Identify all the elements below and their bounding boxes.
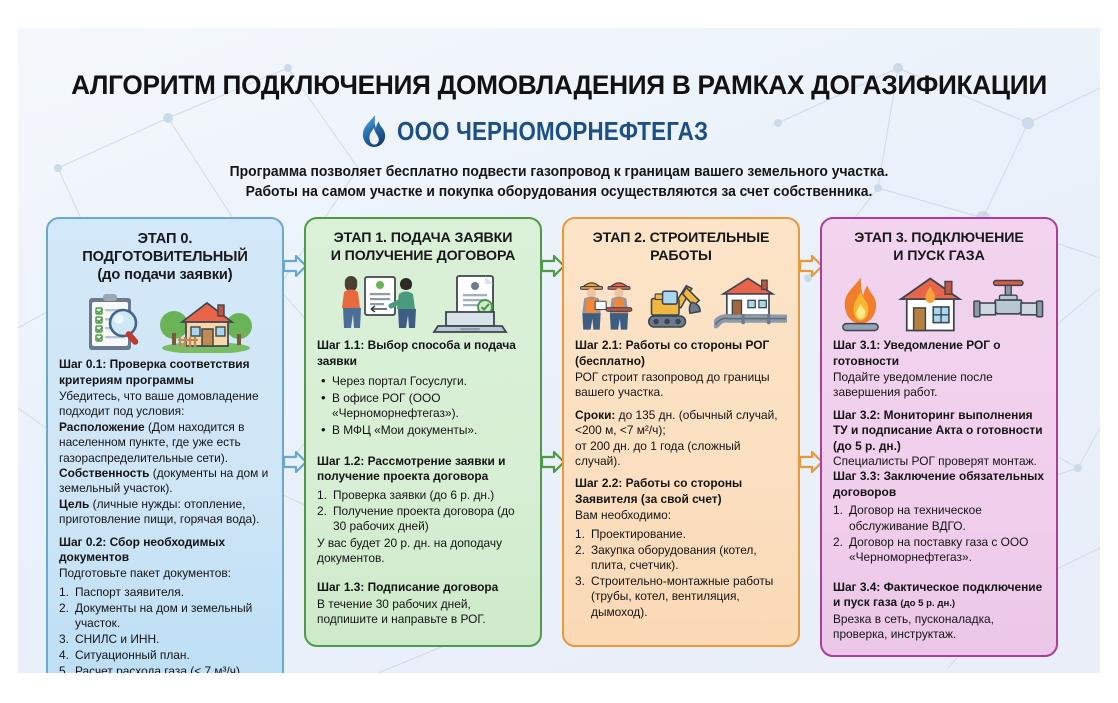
house-trees-icon bbox=[160, 293, 252, 353]
list-item: Паспорт заявителя. bbox=[59, 585, 271, 600]
connector-2-3 bbox=[800, 217, 820, 673]
step-3-4-badge: (до 5 р. дн.) bbox=[900, 598, 955, 609]
stage-2-heading: ЭТАП 2. СТРОИТЕЛЬНЫЕ РАБОТЫ bbox=[575, 228, 787, 265]
step-2-terms-line2: от 200 дн. до 1 года (сложный случай). bbox=[575, 439, 787, 470]
stage-1-heading: ЭТАП 1. ПОДАЧА ЗАЯВКИ И ПОЛУЧЕНИЕ ДОГОВО… bbox=[317, 228, 529, 265]
list-item: Ситуационный план. bbox=[59, 648, 271, 663]
step-3-1-note: Подайте уведомление после завершения раб… bbox=[833, 370, 1045, 401]
list-item: В МФЦ «Мои документы». bbox=[319, 423, 529, 438]
list-item: Получение проекта договора (до 30 рабочи… bbox=[317, 504, 529, 535]
step-3-4-title: Шаг 3.4: Фактическое подключение и пуск … bbox=[833, 580, 1045, 611]
step-2-1-title: Шаг 2.1: Работы со стороны РОГ (бесплатн… bbox=[575, 338, 787, 369]
laptop-application-icon bbox=[430, 274, 510, 334]
step-2-terms: Сроки: до 135 дн. (обычный случай, <200 … bbox=[575, 408, 787, 439]
step-3-3-list: Договор на техническое обслуживание ВДГО… bbox=[833, 503, 1045, 565]
stage-0-heading-line2: (до подачи заявки) bbox=[61, 266, 269, 284]
step-0-2-list: Паспорт заявителя. Документы на дом и зе… bbox=[59, 585, 271, 673]
stage-2-body: Шаг 2.1: Работы со стороны РОГ (бесплатн… bbox=[575, 338, 787, 620]
step-1-2-title: Шаг 1.2: Рассмотрение заявки и получение… bbox=[317, 454, 529, 485]
stage-1-heading-line2: И ПОЛУЧЕНИЕ ДОГОВОРА bbox=[319, 248, 527, 266]
logo-text: ООО ЧЕРНОМОРНЕФТЕГАЗ bbox=[397, 116, 708, 147]
stage-3-heading-line1: ЭТАП 3. ПОДКЛЮЧЕНИЕ bbox=[835, 230, 1043, 248]
step-3-2-note: Специалисты РОГ проверят монтаж. bbox=[833, 454, 1045, 469]
stage-0-body: Шаг 0.1: Проверка соответствия критериям… bbox=[59, 357, 271, 673]
stage-0-icons bbox=[59, 291, 271, 353]
stage-card-2: ЭТАП 2. СТРОИТЕЛЬНЫЕ РАБОТЫ bbox=[562, 217, 800, 647]
step-3-4-note: Врезка в сеть, пусконаладка, проверка, и… bbox=[833, 612, 1045, 643]
gas-flame-icon bbox=[360, 114, 388, 148]
stage-2-icons bbox=[575, 272, 787, 334]
list-item: Проектирование. bbox=[575, 527, 787, 542]
step-1-3-title: Шаг 1.3: Подписание договора bbox=[317, 580, 529, 595]
list-item: Строительно-монтажные работы (трубы, кот… bbox=[575, 574, 787, 620]
list-item: Договор на техническое обслуживание ВДГО… bbox=[833, 503, 1045, 534]
infographic-canvas: АЛГОРИТМ ПОДКЛЮЧЕНИЯ ДОМОВЛАДЕНИЯ В РАМК… bbox=[18, 28, 1100, 673]
criterion-1: Расположение (Дом находится в населенном… bbox=[59, 420, 271, 466]
flame-burner-icon bbox=[833, 274, 888, 334]
connector-0-1 bbox=[284, 217, 304, 673]
checklist-magnifier-icon bbox=[79, 293, 153, 353]
list-item: В офисе РОГ (ООО «Черноморнефтегаз»). bbox=[319, 391, 529, 422]
stage-2-heading-line2: РАБОТЫ bbox=[577, 248, 785, 266]
step-1-2-note: У вас будет 20 р. дн. на доподачу докуме… bbox=[317, 536, 529, 567]
two-workers-icon bbox=[575, 274, 639, 334]
stage-card-3: ЭТАП 3. ПОДКЛЮЧЕНИЕ И ПУСК ГАЗА bbox=[820, 217, 1058, 658]
step-3-3-title: Шаг 3.3: Заключение обязательных договор… bbox=[833, 469, 1045, 500]
step-2-1-note: РОГ строит газопровод до границы вашего … bbox=[575, 370, 787, 401]
list-item: Через портал Госуслуги. bbox=[319, 374, 529, 389]
list-item: Закупка оборудования (котел, плита, счет… bbox=[575, 543, 787, 574]
step-0-2-intro: Подготовьте пакет документов: bbox=[59, 566, 271, 581]
step-1-1-title: Шаг 1.1: Выбор способа и подача заявки bbox=[317, 338, 529, 369]
list-item: Договор на поставку газа с ООО «Черномор… bbox=[833, 535, 1045, 566]
stages-row: ЭТАП 0. ПОДГОТОВИТЕЛЬНЫЙ (до подачи заяв… bbox=[18, 203, 1100, 673]
stage-0-heading: ЭТАП 0. ПОДГОТОВИТЕЛЬНЫЙ (до подачи заяв… bbox=[59, 228, 271, 284]
header: АЛГОРИТМ ПОДКЛЮЧЕНИЯ ДОМОВЛАДЕНИЯ В РАМК… bbox=[18, 28, 1100, 203]
stage-0-heading-line1: ЭТАП 0. ПОДГОТОВИТЕЛЬНЫЙ bbox=[61, 230, 269, 266]
stage-3-heading-line2: И ПУСК ГАЗА bbox=[835, 248, 1043, 266]
list-item: Расчет расхода газа (< 7 м³/ч). bbox=[59, 664, 271, 673]
step-0-2-title: Шаг 0.2: Сбор необходимых документов bbox=[59, 535, 271, 566]
step-1-2-list: Проверка заявки (до 6 р. дн.) Получение … bbox=[317, 488, 529, 535]
stage-3-heading: ЭТАП 3. ПОДКЛЮЧЕНИЕ И ПУСК ГАЗА bbox=[833, 228, 1045, 265]
house-gas-icon bbox=[895, 274, 966, 334]
valve-icon bbox=[972, 276, 1045, 334]
stage-card-1: ЭТАП 1. ПОДАЧА ЗАЯВКИ И ПОЛУЧЕНИЕ ДОГОВО… bbox=[304, 217, 542, 647]
list-item: СНИЛС и ИНН. bbox=[59, 632, 271, 647]
list-item: Проверка заявки (до 6 р. дн.) bbox=[317, 488, 529, 503]
step-0-1-intro: Убедитесь, что ваше домовладение подходи… bbox=[59, 389, 271, 420]
step-1-3-note: В течение 30 рабочих дней, подпишите и н… bbox=[317, 597, 529, 628]
step-1-1-list: Через портал Госуслуги. В офисе РОГ (ООО… bbox=[319, 374, 529, 439]
stage-1-heading-line1: ЭТАП 1. ПОДАЧА ЗАЯВКИ bbox=[319, 230, 527, 248]
subtitle-line-2: Работы на самом участке и покупка оборуд… bbox=[37, 182, 1081, 202]
step-2-2-list: Проектирование. Закупка оборудования (ко… bbox=[575, 527, 787, 620]
stage-3-body: Шаг 3.1: Уведомление РОГ о готовности По… bbox=[833, 338, 1045, 642]
connector-1-2 bbox=[542, 217, 562, 673]
list-item: Документы на дом и земельный участок. bbox=[59, 601, 271, 632]
subtitle-line-1: Программа позволяет бесплатно подвести г… bbox=[37, 162, 1081, 182]
stage-1-body: Шаг 1.1: Выбор способа и подача заявки Ч… bbox=[317, 338, 529, 628]
stage-1-icons bbox=[317, 272, 529, 334]
stage-3-icons bbox=[833, 272, 1045, 334]
step-2-2-title: Шаг 2.2: Работы со стороны Заявителя (за… bbox=[575, 476, 787, 507]
criterion-3: Цель (личные нужды: отопление, приготовл… bbox=[59, 497, 271, 528]
step-0-1-title: Шаг 0.1: Проверка соответствия критериям… bbox=[59, 357, 271, 388]
subtitle: Программа позволяет бесплатно подвести г… bbox=[37, 162, 1081, 203]
step-3-2-title: Шаг 3.2: Мониторинг выполнения ТУ и подп… bbox=[833, 408, 1045, 454]
company-logo: ООО ЧЕРНОМОРНЕФТЕГАЗ bbox=[18, 114, 1100, 148]
step-2-2-intro: Вам необходимо: bbox=[575, 508, 787, 523]
stage-2-heading-line1: ЭТАП 2. СТРОИТЕЛЬНЫЕ bbox=[577, 230, 785, 248]
criterion-2: Собственность (документы на дом и земель… bbox=[59, 466, 271, 497]
excavator-icon bbox=[646, 276, 707, 334]
page-title: АЛГОРИТМ ПОДКЛЮЧЕНИЯ ДОМОВЛАДЕНИЯ В РАМК… bbox=[23, 70, 1094, 101]
step-3-1-title: Шаг 3.1: Уведомление РОГ о готовности bbox=[833, 338, 1045, 369]
two-people-document-icon bbox=[337, 272, 423, 334]
stage-card-0: ЭТАП 0. ПОДГОТОВИТЕЛЬНЫЙ (до подачи заяв… bbox=[46, 217, 284, 673]
house-pipe-icon bbox=[714, 274, 787, 334]
